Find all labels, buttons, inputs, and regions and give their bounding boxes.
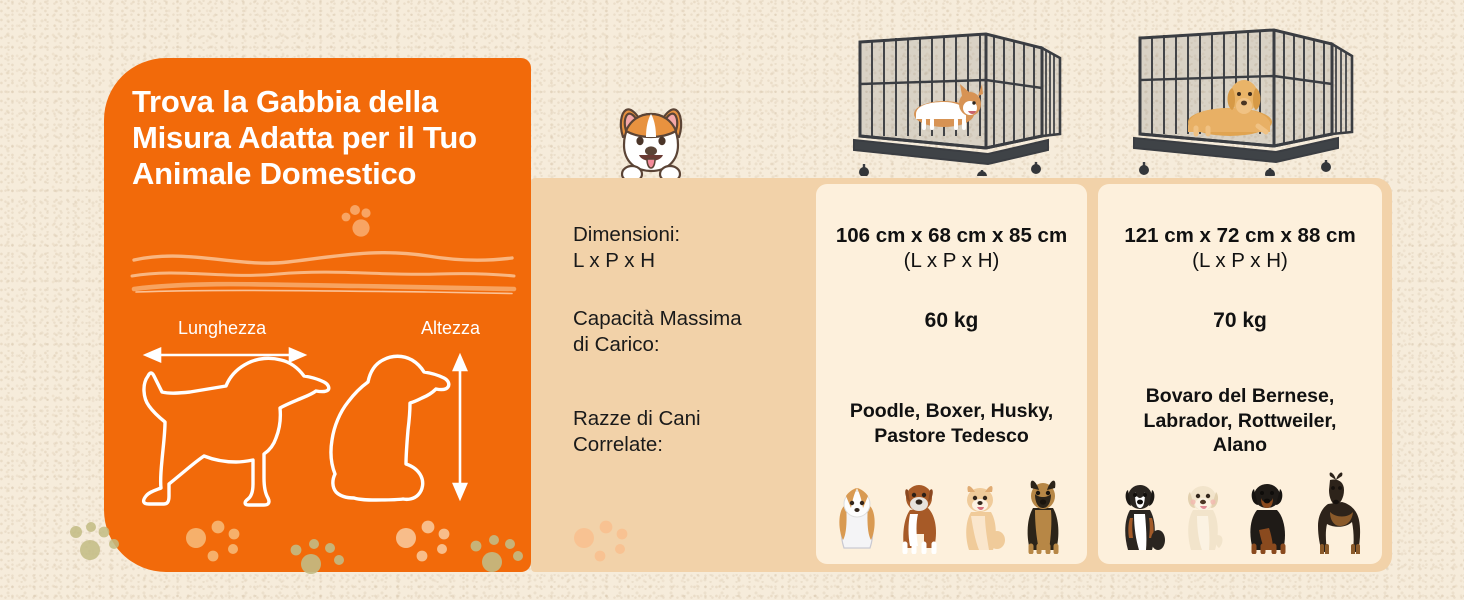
cell-dimensions-small: 106 cm x 68 cm x 85 cm (L x P x H) (816, 224, 1087, 273)
breed-icons-small (816, 462, 1087, 554)
row-label-breeds: Razze di Cani Correlate: (573, 406, 701, 457)
paw-print-icon (396, 521, 449, 562)
cell-load-capacity-small: 60 kg (816, 309, 1087, 333)
paw-print-icon (291, 539, 344, 574)
cell-breeds-large: Bovaro del Bernese, Labrador, Rottweiler… (1098, 384, 1382, 458)
cell-load-capacity-large: 70 kg (1098, 309, 1382, 333)
product-column-small: 106 cm x 68 cm x 85 cm (L x P x H) 60 kg… (816, 184, 1087, 564)
german-shepherd-icon (1017, 472, 1069, 554)
dog-crate-photo-large (1118, 14, 1358, 176)
rottweiler-icon (1241, 474, 1295, 554)
page-title: Trova la Gabbia della Misura Adatta per … (132, 84, 512, 192)
breed-icons-large (1098, 462, 1382, 554)
product-column-large: 121 cm x 72 cm x 88 cm (L x P x H) 70 kg… (1098, 184, 1382, 564)
wave-decoration (128, 246, 518, 298)
paw-decoration-group (28, 516, 648, 600)
row-label-load-capacity: Capacità Massima di Carico: (573, 306, 742, 357)
paw-print-icon (574, 521, 627, 562)
table-row-labels: Dimensioni: L x P x H Capacità Massima d… (573, 178, 813, 572)
husky-icon (955, 476, 1005, 554)
paw-print-icon (186, 521, 239, 562)
dimensions-value: 106 cm x 68 cm x 85 cm (836, 224, 1067, 247)
comparison-table: Dimensioni: L x P x H Capacità Massima d… (531, 178, 1392, 572)
standing-dog-silhouette (144, 358, 329, 505)
cavalier-spaniel-icon (834, 478, 880, 554)
height-arrow (454, 356, 466, 498)
infographic-canvas: Trova la Gabbia della Misura Adatta per … (0, 0, 1464, 600)
great-dane-icon (1308, 468, 1364, 554)
paw-print-icon (70, 522, 119, 560)
hero-panel: Trova la Gabbia della Misura Adatta per … (104, 58, 531, 572)
paw-print-icon (471, 535, 523, 572)
dimensions-sublabel: (L x P x H) (904, 249, 1000, 272)
dog-crate-photo-small (836, 14, 1066, 176)
bernese-mountain-dog-icon (1116, 474, 1166, 554)
cell-dimensions-large: 121 cm x 72 cm x 88 cm (L x P x H) (1098, 224, 1382, 273)
dimensions-sublabel: (L x P x H) (1192, 249, 1288, 272)
dimensions-value: 121 cm x 72 cm x 88 cm (1124, 224, 1355, 247)
height-label: Altezza (421, 318, 480, 339)
corgi-mascot (609, 97, 693, 181)
boxer-icon (892, 474, 944, 554)
row-label-dimensions: Dimensioni: L x P x H (573, 222, 680, 273)
labrador-icon (1179, 474, 1229, 554)
length-label: Lunghezza (178, 318, 266, 339)
paw-print-icon (337, 204, 379, 242)
cell-breeds-small: Poodle, Boxer, Husky, Pastore Tedesco (816, 399, 1087, 448)
sitting-dog-silhouette (331, 356, 449, 500)
